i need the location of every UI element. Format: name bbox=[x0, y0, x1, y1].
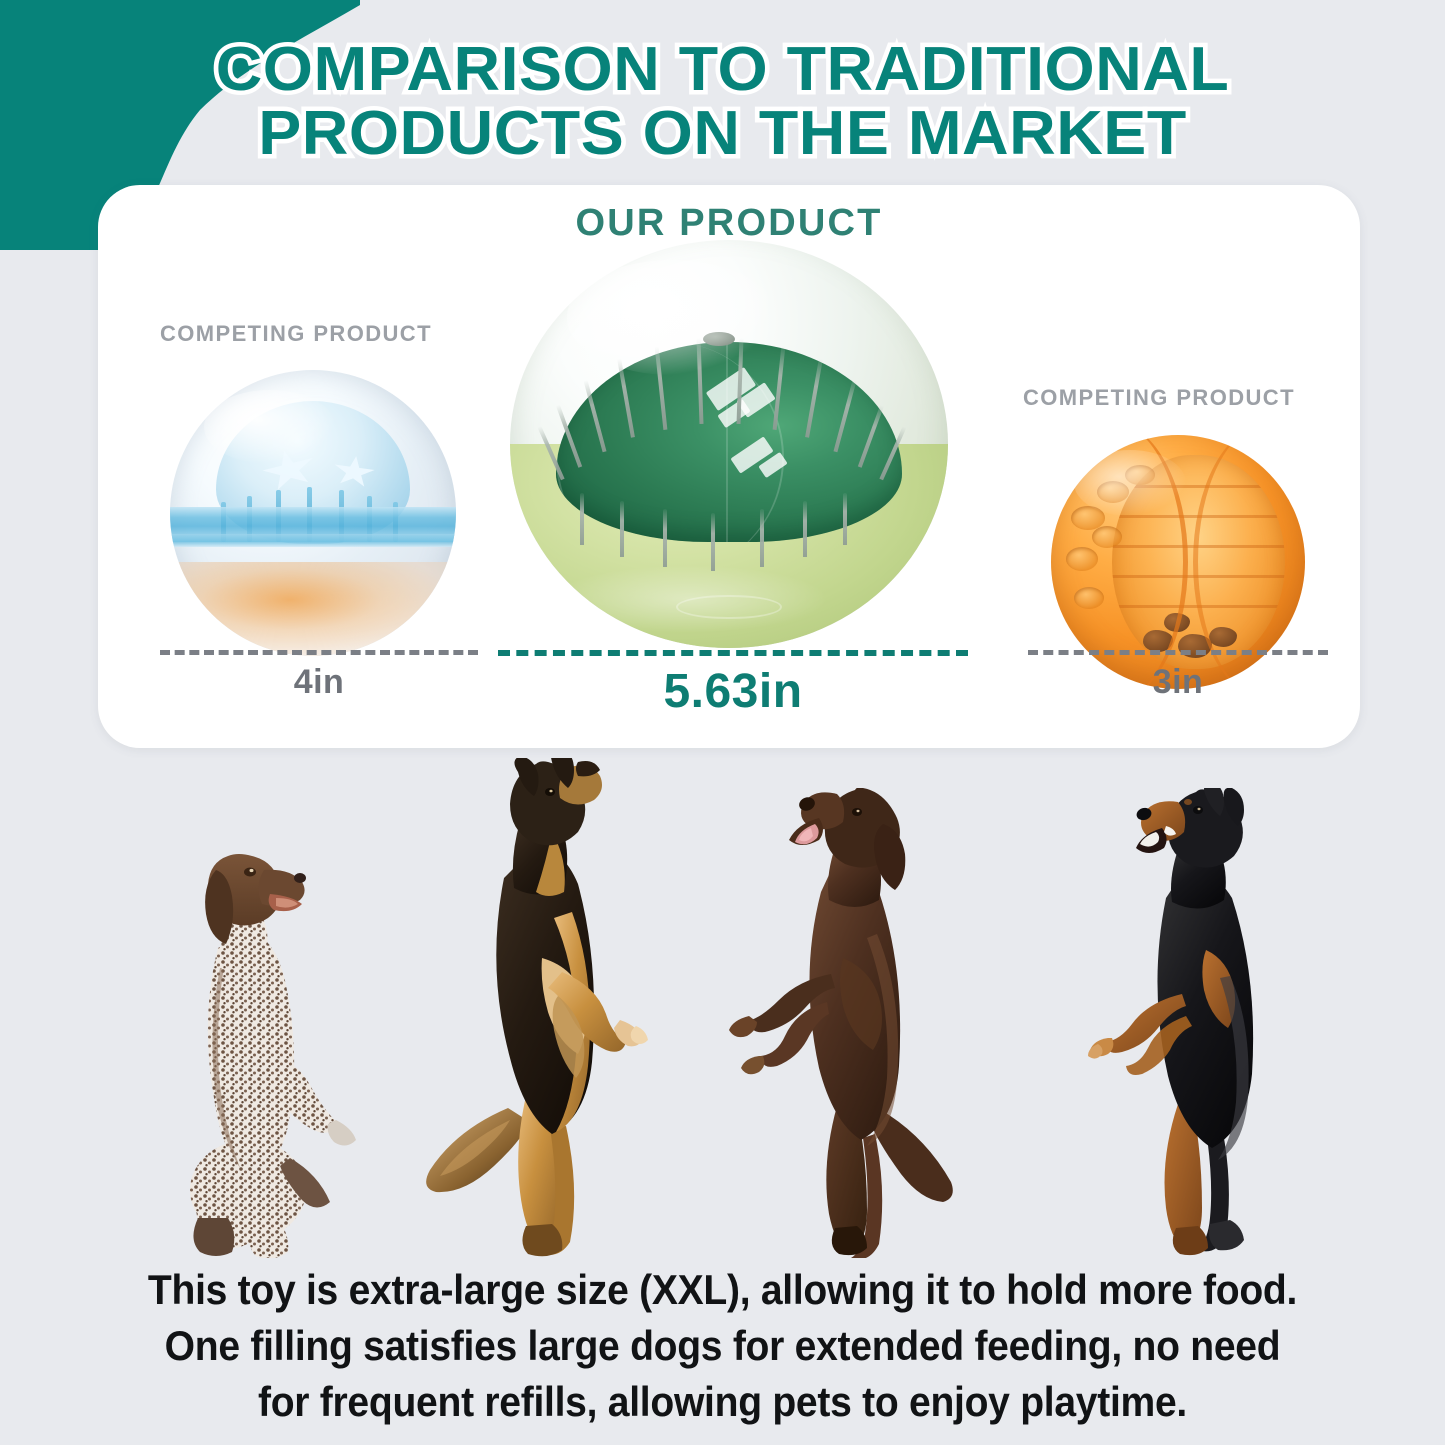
ball-spike bbox=[803, 501, 807, 557]
our-product-image bbox=[488, 240, 970, 648]
caption-line-1: This toy is extra-large size (XXL), allo… bbox=[118, 1262, 1328, 1318]
clear-blue-ball-icon bbox=[170, 370, 456, 656]
ball-highlight bbox=[567, 260, 777, 374]
measurement-dashed-rule bbox=[498, 650, 968, 656]
dog-chocolate-labrador bbox=[715, 788, 995, 1258]
ball-treat-contents bbox=[170, 562, 456, 656]
caption-line-3: for frequent refills, allowing pets to e… bbox=[118, 1374, 1328, 1430]
ball-spike bbox=[580, 493, 584, 545]
bottom-caption: This toy is extra-large size (XXL), allo… bbox=[118, 1262, 1328, 1430]
dog-german-shepherd bbox=[400, 758, 690, 1258]
our-product-heading: OUR PRODUCT bbox=[98, 202, 1360, 245]
ball-spike bbox=[843, 493, 847, 545]
ball-equator-band bbox=[170, 534, 456, 547]
measurement-value-right: 3in bbox=[1028, 663, 1328, 702]
measurement-value-left: 4in bbox=[160, 663, 478, 702]
page-title-line-1: COMPARISON TO TRADITIONAL bbox=[0, 38, 1445, 102]
ball-dimple bbox=[1066, 547, 1098, 571]
product-center bbox=[488, 240, 970, 648]
caption-line-2: One filling satisfies large dogs for ext… bbox=[118, 1318, 1328, 1374]
competing-product-left-image bbox=[158, 370, 468, 656]
measurement-left: 4in bbox=[160, 650, 478, 702]
dome-seam bbox=[726, 342, 728, 542]
competing-product-label-right: COMPETING PRODUCT bbox=[1023, 385, 1295, 411]
measurement-center: 5.63in bbox=[498, 650, 968, 719]
ball-spike bbox=[663, 509, 667, 567]
green-dome-ball-icon bbox=[510, 240, 948, 648]
competing-product-label-left: COMPETING PRODUCT bbox=[160, 321, 432, 347]
ball-highlight bbox=[204, 390, 336, 464]
comparison-card: OUR PRODUCT COMPETING PRODUCT COMPETING … bbox=[98, 185, 1360, 748]
page-title-line-2: PRODUCTS ON THE MARKET bbox=[0, 102, 1445, 166]
measurement-value-center: 5.63in bbox=[498, 664, 968, 719]
dog-doberman-pinscher bbox=[1070, 788, 1350, 1258]
dogs-row bbox=[0, 748, 1445, 1258]
ball-spike bbox=[711, 513, 715, 571]
ball-highlight bbox=[1074, 450, 1186, 516]
page-title: COMPARISON TO TRADITIONAL PRODUCTS ON TH… bbox=[0, 38, 1445, 166]
ball-spike bbox=[760, 509, 764, 567]
measurement-dashed-rule bbox=[1028, 650, 1328, 655]
dog-german-shorthaired-pointer bbox=[140, 798, 400, 1258]
product-left bbox=[158, 370, 468, 656]
measurement-dashed-rule bbox=[160, 650, 478, 655]
measurement-right: 3in bbox=[1028, 650, 1328, 702]
ball-spike bbox=[620, 501, 624, 557]
